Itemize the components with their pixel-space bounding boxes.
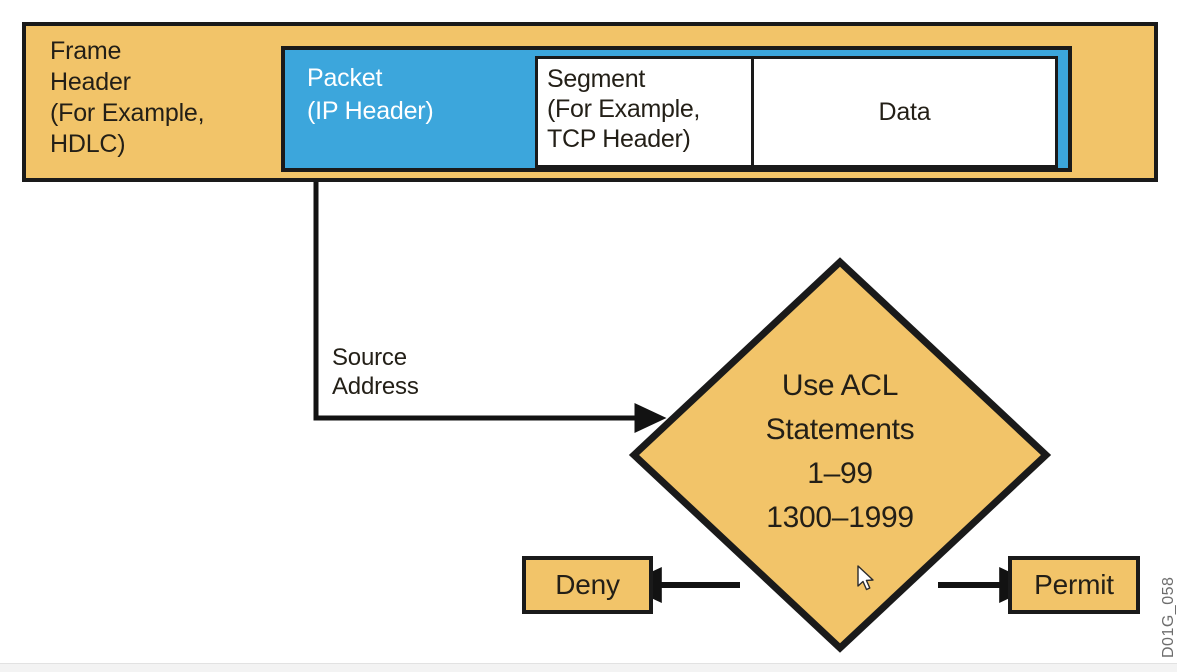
diagram-canvas: Frame Header (For Example, HDLC) Packet …	[0, 0, 1177, 672]
watermark: D01G_058	[1143, 556, 1163, 660]
data-label: Data	[878, 98, 930, 127]
mouse-cursor-icon	[856, 565, 876, 593]
frame-bar: Frame Header (For Example, HDLC) Packet …	[22, 22, 1158, 182]
frame-header-label: Frame Header (For Example, HDLC)	[50, 36, 204, 160]
bottom-strip	[0, 663, 1177, 672]
segment-box: Segment (For Example, TCP Header)	[535, 56, 754, 168]
watermark-code: D01G_058	[1160, 577, 1177, 658]
source-address-label: Source Address	[332, 343, 419, 401]
permit-box: Permit	[1008, 556, 1140, 614]
permit-label: Permit	[1034, 569, 1114, 601]
data-box: Data	[751, 56, 1058, 168]
decision-node: Use ACL Statements 1–99 1300–1999	[630, 258, 1050, 652]
packet-box: Packet (IP Header) Segment (For Example,…	[281, 46, 1072, 172]
deny-label: Deny	[555, 569, 620, 601]
packet-label: Packet (IP Header)	[307, 62, 434, 128]
deny-box: Deny	[522, 556, 653, 614]
segment-label: Segment (For Example, TCP Header)	[547, 64, 700, 154]
decision-label: Use ACL Statements 1–99 1300–1999	[630, 364, 1050, 540]
